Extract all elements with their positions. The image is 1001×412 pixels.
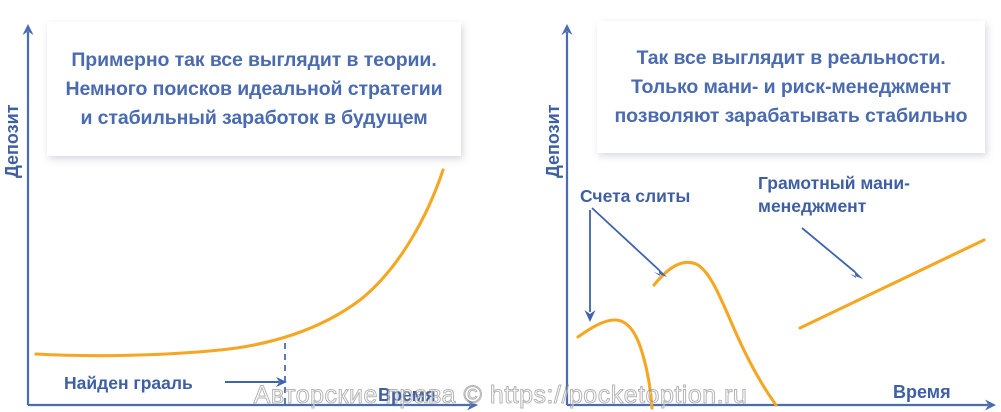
reality-y-axis-label: Депозит: [543, 104, 564, 178]
theory-callout-box: Примерно так все выглядит в теории. Немн…: [47, 22, 461, 156]
theory-grail-arrow: [225, 377, 287, 387]
reality-callout-box: Так все выглядит в реальности. Только ма…: [597, 21, 985, 153]
reality-curve-money-management: [800, 240, 984, 328]
reality-curve-second-blown-account: [654, 262, 776, 405]
reality-arrow-blown-down: [585, 210, 596, 322]
reality-x-axis-label: Время: [893, 382, 951, 403]
reality-arrow-money-management: [802, 228, 863, 279]
chart-panel-reality: Так все выглядит в реальности. Только ма…: [500, 0, 1001, 412]
theory-y-axis-label: Депозит: [2, 104, 23, 178]
reality-callout-text: Так все выглядит в реальности. Только ма…: [609, 44, 973, 131]
infographic-canvas: Примерно так все выглядит в теории. Немн…: [0, 0, 1001, 412]
reality-curve-first-blown-account: [578, 320, 652, 408]
theory-annotation-grail: Найден грааль: [64, 372, 193, 395]
theory-y-axis: [23, 24, 34, 405]
reality-annotation-blown-accounts: Счета слиты: [580, 185, 690, 208]
chart-panel-theory: Примерно так все выглядит в теории. Немн…: [0, 0, 500, 412]
theory-deposit-curve: [36, 170, 443, 356]
reality-y-axis: [562, 24, 573, 405]
theory-x-axis-label: Время: [378, 385, 436, 406]
reality-arrow-blown-diagonal: [592, 208, 667, 277]
reality-annotation-money-management: Грамотный мани- менеджмент: [758, 172, 910, 218]
theory-callout-text: Примерно так все выглядит в теории. Немн…: [57, 46, 451, 133]
